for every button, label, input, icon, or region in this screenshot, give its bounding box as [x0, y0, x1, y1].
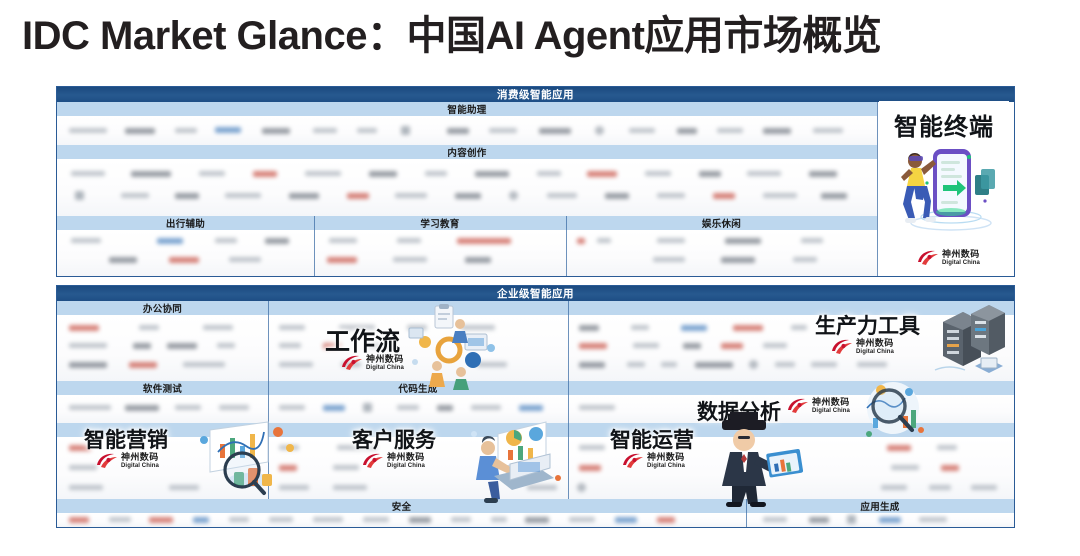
- enterprise-col-header-workflow-blank: [268, 301, 568, 315]
- consumer-logos-assistant: [57, 116, 877, 145]
- enterprise-col-header-security[interactable]: 安全: [57, 499, 746, 513]
- consumer-section-header-label: 消费级智能应用: [497, 87, 574, 102]
- enterprise-row3-header-strip: [57, 423, 1014, 437]
- enterprise-col-header-codegen[interactable]: 代码生成: [268, 381, 568, 395]
- consumer-row-header-content[interactable]: 内容创作: [57, 145, 877, 159]
- enterprise-divider-col2: [568, 301, 569, 499]
- enterprise-col-header-appgen[interactable]: 应用生成: [746, 499, 1014, 513]
- consumer-section-panel: 消费级智能应用 智能助理 内容创作: [56, 86, 1015, 277]
- enterprise-divider-bottom: [746, 499, 747, 527]
- enterprise-section-header: 企业级智能应用: [57, 286, 1014, 301]
- brand-name-en: Digital China: [942, 260, 980, 266]
- digital-china-logo-terminal: 神州数码 Digital China: [917, 249, 980, 266]
- consumer-row-header-assistant[interactable]: 智能助理: [57, 102, 877, 116]
- person-phone-ar-illustration: [889, 135, 1001, 235]
- enterprise-col-label-testing: 软件测试: [143, 381, 182, 395]
- consumer-divider-1: [314, 216, 315, 277]
- consumer-row-label-assistant: 智能助理: [447, 102, 486, 116]
- enterprise-col-header-productivity-blank: [568, 301, 1014, 315]
- enterprise-col-header-analytics-blank: [568, 381, 1014, 395]
- digital-china-mark-icon: [917, 249, 939, 266]
- consumer-col-label-education: 学习教育: [420, 216, 459, 230]
- brand-name-cn: 神州数码: [942, 250, 980, 259]
- enterprise-logos-row2: [57, 395, 1014, 423]
- consumer-col-header-entertainment[interactable]: 娱乐休闲: [566, 216, 877, 230]
- enterprise-col-label-office: 办公协同: [143, 301, 182, 315]
- consumer-divider-2: [566, 216, 567, 277]
- consumer-section-header: 消费级智能应用: [57, 87, 1014, 102]
- smart-terminal-label: 智能终端: [894, 107, 994, 142]
- enterprise-col-header-testing[interactable]: 软件测试: [57, 381, 268, 395]
- consumer-row-label-content: 内容创作: [447, 145, 486, 159]
- enterprise-logos-bottom: [57, 513, 1014, 527]
- consumer-col-label-travel: 出行辅助: [166, 216, 205, 230]
- consumer-col-header-travel[interactable]: 出行辅助: [57, 216, 314, 230]
- consumer-divider-right: [877, 102, 878, 277]
- enterprise-divider-col1: [268, 301, 269, 499]
- page-title: IDC Market Glance：中国AI Agent应用市场概览: [22, 12, 1062, 60]
- enterprise-section-panel: 企业级智能应用 办公协同: [56, 285, 1015, 528]
- enterprise-col-header-office[interactable]: 办公协同: [57, 301, 268, 315]
- consumer-col-header-education[interactable]: 学习教育: [314, 216, 566, 230]
- enterprise-col-label-appgen: 应用生成: [860, 499, 899, 513]
- enterprise-section-header-label: 企业级智能应用: [497, 286, 574, 301]
- enterprise-logos-row3: [57, 437, 1014, 499]
- consumer-logos-bottom: [57, 230, 877, 276]
- consumer-logos-content: [57, 159, 877, 216]
- consumer-col-label-entertainment: 娱乐休闲: [702, 216, 741, 230]
- smart-terminal-card[interactable]: 智能终端: [879, 101, 1009, 273]
- enterprise-col-label-codegen: 代码生成: [398, 381, 437, 395]
- enterprise-col-label-security: 安全: [392, 499, 412, 513]
- enterprise-logos-row1: [57, 315, 1014, 381]
